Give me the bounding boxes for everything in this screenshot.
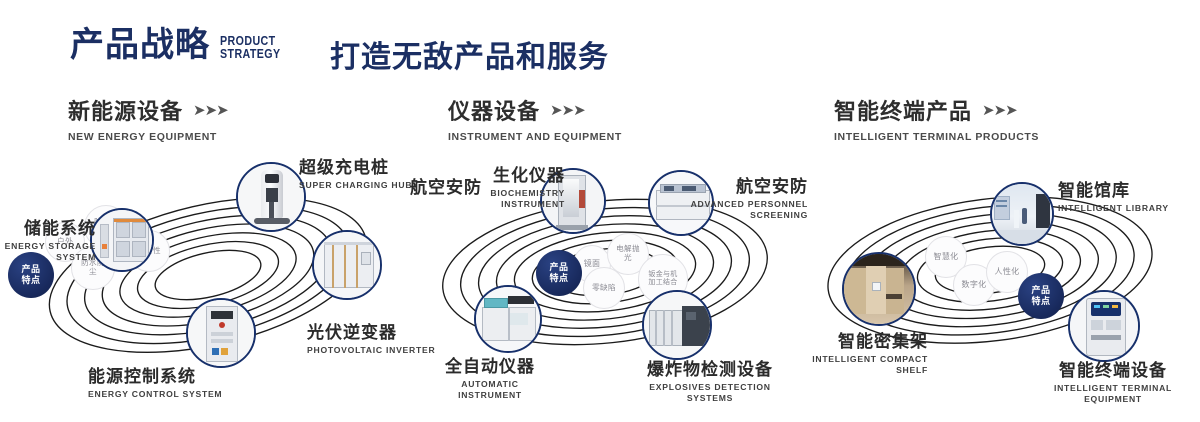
node-label-cn: 航空安防	[678, 172, 808, 197]
chevron-right-icon: ➤➤➤	[193, 103, 228, 118]
node-automatic-instrument[interactable]	[474, 285, 542, 353]
node-intelligent-compact-shelf[interactable]	[842, 252, 916, 326]
section-heading-label: 仪器设备	[448, 94, 540, 126]
node-intelligent-library[interactable]	[990, 182, 1054, 246]
self-service-kiosk-photo	[1070, 292, 1138, 360]
node-super-charging-hub[interactable]	[236, 162, 306, 232]
node-label-en-line2: INSTRUMENT	[455, 199, 565, 210]
feature-label: 零缺陷	[592, 284, 616, 293]
node-label-energy-control-system: 能源控制系统 ENERGY CONTROL SYSTEM	[88, 362, 222, 400]
photovoltaic-inverter-photo	[314, 232, 380, 298]
node-label-en-line1: INTELLIGENT COMPACT	[806, 354, 928, 365]
section-heading-cn: 新能源设备 ➤➤➤	[68, 94, 228, 126]
feature-label: 电解抛光	[616, 245, 640, 263]
node-label-en: ENERGY STORAGE SYSTEM	[0, 241, 96, 262]
page-title-cn: 产品战略	[70, 28, 210, 62]
node-label-cn: 智能馆库	[1058, 176, 1169, 201]
node-label-en: BIOCHEMISTRY INSTRUMENT	[455, 188, 565, 209]
chevron-right-icon: ➤➤➤	[550, 103, 585, 118]
section-heading-en: INSTRUMENT AND EQUIPMENT	[448, 131, 622, 143]
node-label-cn: 智能密集架	[806, 327, 928, 352]
feature-bubble: 零缺陷	[583, 267, 625, 309]
node-label-intelligent-library: 智能馆库 INTELLIGENT LIBRARY	[1058, 176, 1169, 214]
chevron-right-icon: ➤➤➤	[982, 103, 1017, 118]
node-energy-control-system[interactable]	[186, 298, 256, 368]
energy-control-cabinet-photo	[188, 300, 254, 366]
node-label-super-charging-hub: 超级充电桩 SUPER CHARGING HUB	[299, 153, 412, 191]
intelligent-library-interior-photo	[992, 184, 1052, 244]
feature-label: 人性化	[995, 267, 1020, 276]
explosives-detection-unit-photo	[644, 292, 710, 358]
node-label-explosives-detection: 爆炸物检测设备 EXPLOSIVES DETECTION SYSTEMS	[630, 355, 790, 403]
node-label-cn: 超级充电桩	[299, 153, 412, 178]
product-strategy-infographic: 产品战略 PRODUCT STRATEGY 打造无敌产品和服务 新能源设备 ➤➤…	[0, 0, 1200, 422]
section-heading-cn: 仪器设备 ➤➤➤	[448, 94, 622, 126]
node-intelligent-terminal-equipment[interactable]	[1068, 290, 1140, 362]
node-label-cn: 储能系统	[0, 214, 96, 239]
node-label-en: INTELLIGENT TERMINAL EQUIPMENT	[1028, 383, 1198, 404]
node-label-cn: 智能终端设备	[1028, 356, 1198, 381]
badge-line-1: 产品	[549, 262, 568, 273]
feature-label: 钣金与机加工结合	[646, 271, 680, 288]
badge-line-1: 产品	[21, 264, 40, 275]
page-title: 产品战略 PRODUCT STRATEGY	[70, 28, 294, 62]
product-feature-badge: 产品 特点	[536, 250, 582, 296]
node-label-en: AUTOMATIC INSTRUMENT	[430, 379, 550, 400]
node-label-intelligent-compact-shelf: 智能密集架 INTELLIGENT COMPACT SHELF	[806, 327, 928, 375]
node-label-energy-storage: 储能系统 ENERGY STORAGE SYSTEM	[0, 214, 96, 262]
node-label-en: ADVANCED PERSONNEL SCREENING	[678, 199, 808, 220]
section-heading-en: INTELLIGENT TERMINAL PRODUCTS	[834, 131, 1039, 143]
section-heading-label: 新能源设备	[68, 94, 183, 126]
node-label-cn: 全自动仪器	[430, 352, 550, 377]
product-feature-badge: 产品 特点	[1018, 273, 1064, 319]
node-label-en-line2: SHELF	[806, 365, 928, 376]
node-label-cn: 生化仪器	[455, 161, 565, 186]
page-title-en-line1: PRODUCT	[220, 34, 281, 47]
node-label-en: ENERGY CONTROL SYSTEM	[88, 389, 222, 400]
node-energy-storage[interactable]	[90, 208, 154, 272]
node-photovoltaic-inverter[interactable]	[312, 230, 382, 300]
section-heading-instrument: 仪器设备 ➤➤➤ INSTRUMENT AND EQUIPMENT	[448, 94, 622, 143]
node-label-en: INTELLIGENT LIBRARY	[1058, 203, 1169, 214]
badge-line-2: 特点	[549, 273, 568, 284]
node-label-cn: 爆炸物检测设备	[630, 355, 790, 380]
page-title-en-line2: STRATEGY	[220, 47, 281, 60]
node-label-intelligent-terminal-equipment: 智能终端设备 INTELLIGENT TERMINAL EQUIPMENT	[1028, 356, 1198, 404]
node-label-en: SUPER CHARGING HUB	[299, 180, 412, 191]
badge-line-1: 产品	[1031, 285, 1050, 296]
node-label-en-line1: BIOCHEMISTRY	[455, 188, 565, 199]
section-heading-intelligent-terminal: 智能终端产品 ➤➤➤ INTELLIGENT TERMINAL PRODUCTS	[834, 94, 1039, 143]
compact-shelving-photo	[844, 254, 914, 324]
node-label-en: INTELLIGENT COMPACT SHELF	[806, 354, 928, 375]
node-label-en-line2: SYSTEM	[0, 252, 96, 263]
badge-line-2: 特点	[21, 275, 40, 286]
feature-label: 智慧化	[934, 252, 959, 261]
node-label-advanced-personnel-screening: 航空安防 ADVANCED PERSONNEL SCREENING	[678, 172, 808, 220]
node-label-automatic-instrument: 全自动仪器 AUTOMATIC INSTRUMENT	[430, 352, 550, 400]
badge-line-2: 特点	[1031, 296, 1050, 307]
energy-storage-cabinet-photo	[92, 210, 152, 270]
page-title-en: PRODUCT STRATEGY	[220, 34, 281, 61]
automatic-instrument-photo	[476, 287, 540, 351]
page-subtitle: 打造无敌产品和服务	[330, 32, 609, 76]
section-heading-label: 智能终端产品	[834, 94, 972, 126]
ev-charging-pile-photo	[238, 164, 304, 230]
node-label-en: EXPLOSIVES DETECTION SYSTEMS	[630, 382, 790, 403]
section-heading-cn: 智能终端产品 ➤➤➤	[834, 94, 1039, 126]
node-label-biochemistry-instrument: 生化仪器 BIOCHEMISTRY INSTRUMENT	[455, 161, 565, 209]
node-explosives-detection[interactable]	[642, 290, 712, 360]
node-label-en-line2: SCREENING	[678, 210, 808, 221]
node-label-cn: 能源控制系统	[88, 362, 222, 387]
node-label-en-line1: ENERGY STORAGE	[0, 241, 96, 252]
feature-label: 数字化	[962, 280, 987, 289]
section-heading-en: NEW ENERGY EQUIPMENT	[68, 131, 228, 143]
node-label-en-line1: ADVANCED PERSONNEL	[678, 199, 808, 210]
section-heading-new-energy: 新能源设备 ➤➤➤ NEW ENERGY EQUIPMENT	[68, 94, 228, 143]
